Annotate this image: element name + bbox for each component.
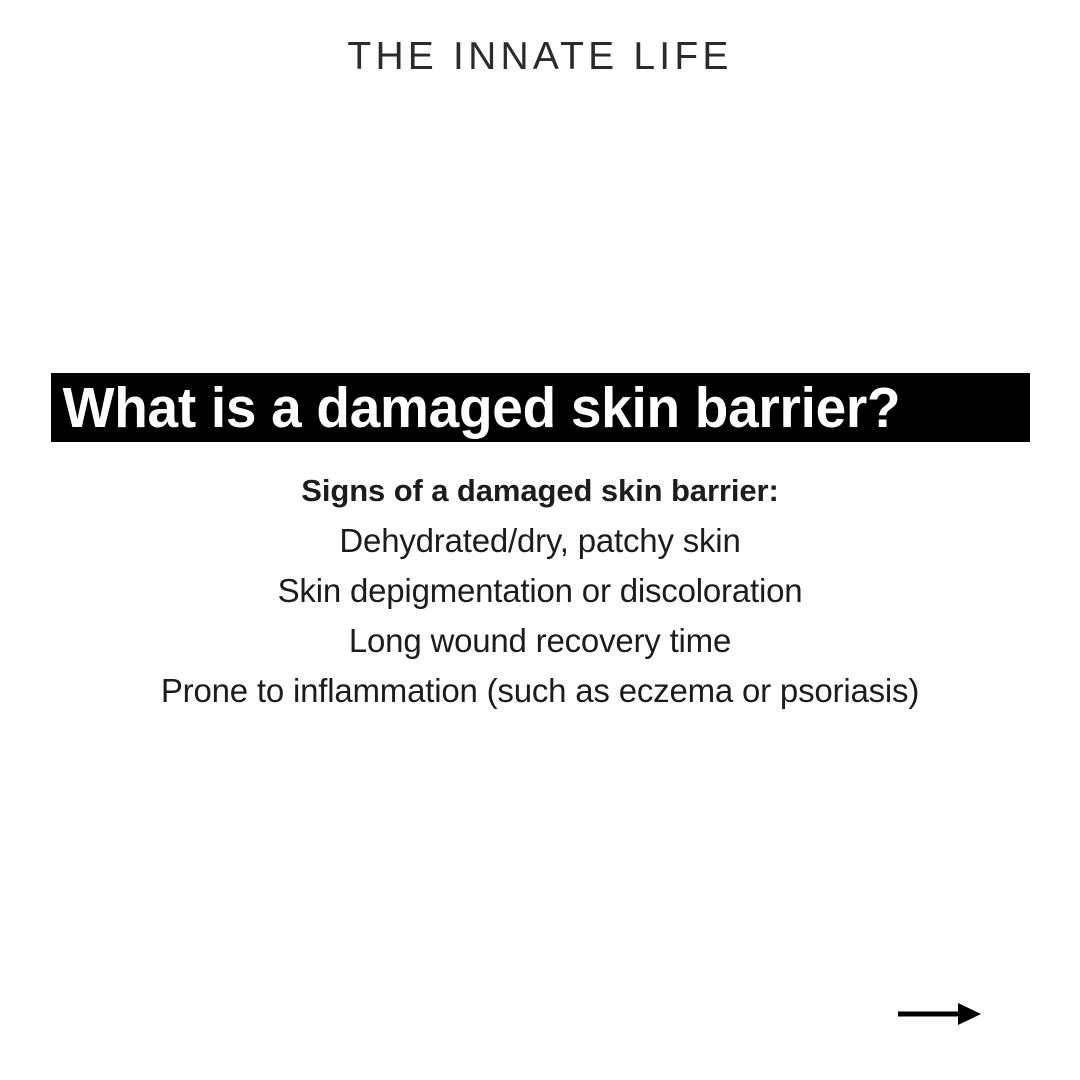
headline-text: What is a damaged skin barrier? <box>51 377 900 439</box>
body-line-heading: Signs of a damaged skin barrier: <box>0 466 1080 516</box>
body-copy: Signs of a damaged skin barrier: Dehydra… <box>0 466 1080 716</box>
body-line-sign-1: Dehydrated/dry, patchy skin <box>0 516 1080 566</box>
body-line-sign-3: Long wound recovery time <box>0 616 1080 666</box>
next-slide-button[interactable] <box>896 998 984 1030</box>
brand-title: THE INNATE LIFE <box>0 34 1080 80</box>
arrow-right-icon <box>896 998 984 1030</box>
headline-banner: What is a damaged skin barrier? <box>51 373 1030 442</box>
body-line-sign-4: Prone to inflammation (such as eczema or… <box>0 666 1080 716</box>
body-line-sign-2: Skin depigmentation or discoloration <box>0 566 1080 616</box>
slide-canvas: THE INNATE LIFE What is a damaged skin b… <box>0 0 1080 1080</box>
